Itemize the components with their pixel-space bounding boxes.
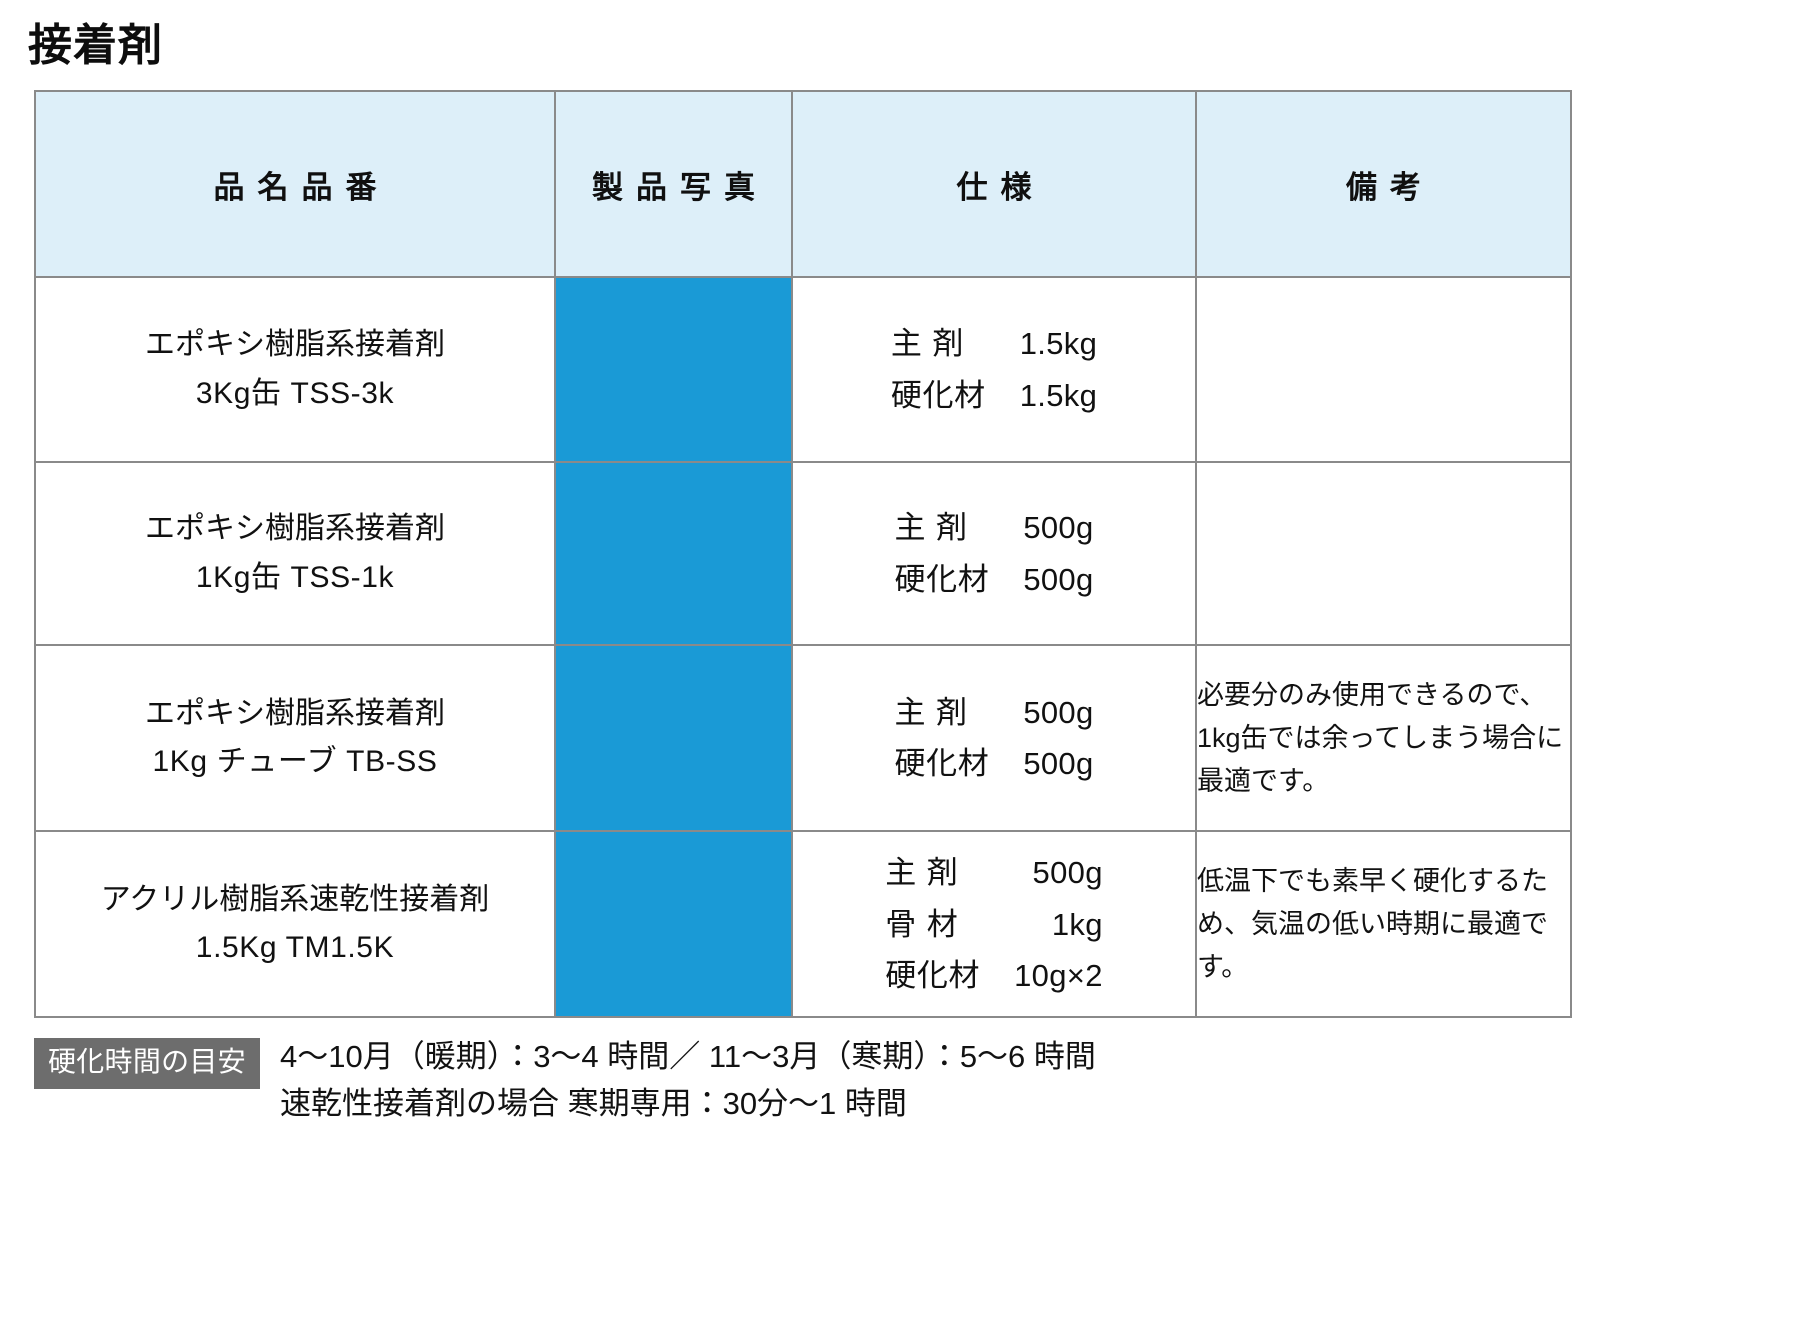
spec-list: 主剤 1.5kg 硬化材 1.5kg — [891, 318, 1097, 421]
curing-time-badge: 硬化時間の目安 — [34, 1038, 260, 1089]
spec-value: 500g — [1023, 554, 1093, 605]
page-title: 接着剤 — [28, 22, 1800, 70]
spec-row: 主剤 1.5kg — [891, 318, 1097, 369]
remarks-text: 低温下でも素早く硬化するため、気温の低い時期に最適です。 — [1197, 860, 1570, 988]
specification-cell: 主剤 500g 骨材 1kg 硬化材 10g×2 — [792, 831, 1196, 1017]
table-row: エポキシ樹脂系接着剤 3Kg缶 TSS-3k — [35, 277, 1571, 462]
specification-cell: 主剤 500g 硬化材 500g — [792, 462, 1196, 645]
remarks-cell — [1196, 462, 1571, 645]
spec-label: 主剤 — [891, 318, 1020, 369]
specification-cell: 主剤 1.5kg 硬化材 1.5kg — [792, 277, 1196, 462]
spec-value: 500g — [1023, 687, 1093, 738]
spec-value: 10g×2 — [1014, 950, 1103, 1001]
product-name-cell: エポキシ樹脂系接着剤 3Kg缶 TSS-3k — [35, 277, 555, 462]
product-photo-cell — [555, 462, 792, 645]
product-name-line2: 1Kg チューブ TB-SS — [36, 738, 554, 787]
remarks-cell: 必要分のみ使用できるので、1kg缶では余ってしまう場合に最適です。 — [1196, 645, 1571, 831]
product-name-line1: アクリル樹脂系速乾性接着剤 — [36, 876, 554, 925]
curing-time-note: 硬化時間の目安 4〜10月（暖期）：3〜4 時間／ 11〜3月（寒期）：5〜6 … — [34, 1034, 1800, 1127]
spec-value: 500g — [1014, 847, 1103, 898]
product-name-cell: エポキシ樹脂系接着剤 1Kg缶 TSS-1k — [35, 462, 555, 645]
table-row: エポキシ樹脂系接着剤 1Kg チューブ TB-SS — [35, 645, 1571, 831]
product-photo-cell — [555, 831, 792, 1017]
spec-label: 硬化材 — [885, 950, 1014, 1001]
adhesive-spec-sheet: 接着剤 品名品番 製品写真 仕様 備考 エポキシ樹脂系接着剤 3Kg缶 — [0, 22, 1800, 1335]
spec-value: 1kg — [1014, 899, 1103, 950]
spec-row: 硬化材 10g×2 — [885, 950, 1103, 1001]
table-body: エポキシ樹脂系接着剤 3Kg缶 TSS-3k — [35, 277, 1571, 1017]
spec-row: 骨材 1kg — [885, 899, 1103, 950]
product-name-cell: エポキシ樹脂系接着剤 1Kg チューブ TB-SS — [35, 645, 555, 831]
spec-label: 主剤 — [894, 502, 1023, 553]
spec-list: 主剤 500g 骨材 1kg 硬化材 10g×2 — [885, 847, 1103, 1001]
product-name-line2: 1.5Kg TM1.5K — [36, 924, 554, 973]
product-name-line1: エポキシ樹脂系接着剤 — [36, 321, 554, 370]
product-name-line1: エポキシ樹脂系接着剤 — [36, 690, 554, 739]
product-name-cell: アクリル樹脂系速乾性接着剤 1.5Kg TM1.5K — [35, 831, 555, 1017]
spec-value: 500g — [1023, 502, 1093, 553]
spec-row: 硬化材 500g — [894, 554, 1093, 605]
spec-value: 1.5kg — [1020, 370, 1097, 421]
column-header-product-name: 品名品番 — [35, 91, 555, 277]
product-name-line2: 3Kg缶 TSS-3k — [36, 370, 554, 419]
curing-time-text: 4〜10月（暖期）：3〜4 時間／ 11〜3月（寒期）：5〜6 時間 速乾性接着… — [280, 1034, 1096, 1127]
column-header-product-photo: 製品写真 — [555, 91, 792, 277]
spec-row: 主剤 500g — [894, 687, 1093, 738]
spec-row: 主剤 500g — [894, 502, 1093, 553]
spec-row: 硬化材 500g — [894, 738, 1093, 789]
spec-label: 主剤 — [894, 687, 1023, 738]
header-row: 品名品番 製品写真 仕様 備考 — [35, 91, 1571, 277]
curing-time-line1: 4〜10月（暖期）：3〜4 時間／ 11〜3月（寒期）：5〜6 時間 — [280, 1034, 1096, 1081]
spec-list: 主剤 500g 硬化材 500g — [894, 687, 1093, 790]
table-header: 品名品番 製品写真 仕様 備考 — [35, 91, 1571, 277]
spec-value: 1.5kg — [1020, 318, 1097, 369]
table-row: アクリル樹脂系速乾性接着剤 1.5Kg TM1.5K — [35, 831, 1571, 1017]
product-photo-cell — [555, 277, 792, 462]
spec-row: 主剤 500g — [885, 847, 1103, 898]
spec-label: 主剤 — [885, 847, 1014, 898]
spec-list: 主剤 500g 硬化材 500g — [894, 502, 1093, 605]
spec-label: 硬化材 — [894, 554, 1023, 605]
spec-label: 硬化材 — [891, 370, 1020, 421]
product-photo-cell — [555, 645, 792, 831]
spec-label: 骨材 — [885, 899, 1014, 950]
specification-cell: 主剤 500g 硬化材 500g — [792, 645, 1196, 831]
product-name-line1: エポキシ樹脂系接着剤 — [36, 505, 554, 554]
curing-time-line2: 速乾性接着剤の場合 寒期専用：30分〜1 時間 — [280, 1081, 1096, 1128]
spec-label: 硬化材 — [894, 738, 1023, 789]
remarks-text: 必要分のみ使用できるので、1kg缶では余ってしまう場合に最適です。 — [1197, 674, 1570, 802]
column-header-remarks: 備考 — [1196, 91, 1571, 277]
remarks-cell: 低温下でも素早く硬化するため、気温の低い時期に最適です。 — [1196, 831, 1571, 1017]
table-row: エポキシ樹脂系接着剤 1Kg缶 TSS-1k — [35, 462, 1571, 645]
spec-value: 500g — [1023, 738, 1093, 789]
spec-row: 硬化材 1.5kg — [891, 370, 1097, 421]
remarks-cell — [1196, 277, 1571, 462]
spec-table-container: 品名品番 製品写真 仕様 備考 エポキシ樹脂系接着剤 3Kg缶 TSS-3k — [34, 90, 1570, 1018]
adhesive-products-table: 品名品番 製品写真 仕様 備考 エポキシ樹脂系接着剤 3Kg缶 TSS-3k — [34, 90, 1572, 1018]
column-header-specification: 仕様 — [792, 91, 1196, 277]
product-name-line2: 1Kg缶 TSS-1k — [36, 554, 554, 603]
